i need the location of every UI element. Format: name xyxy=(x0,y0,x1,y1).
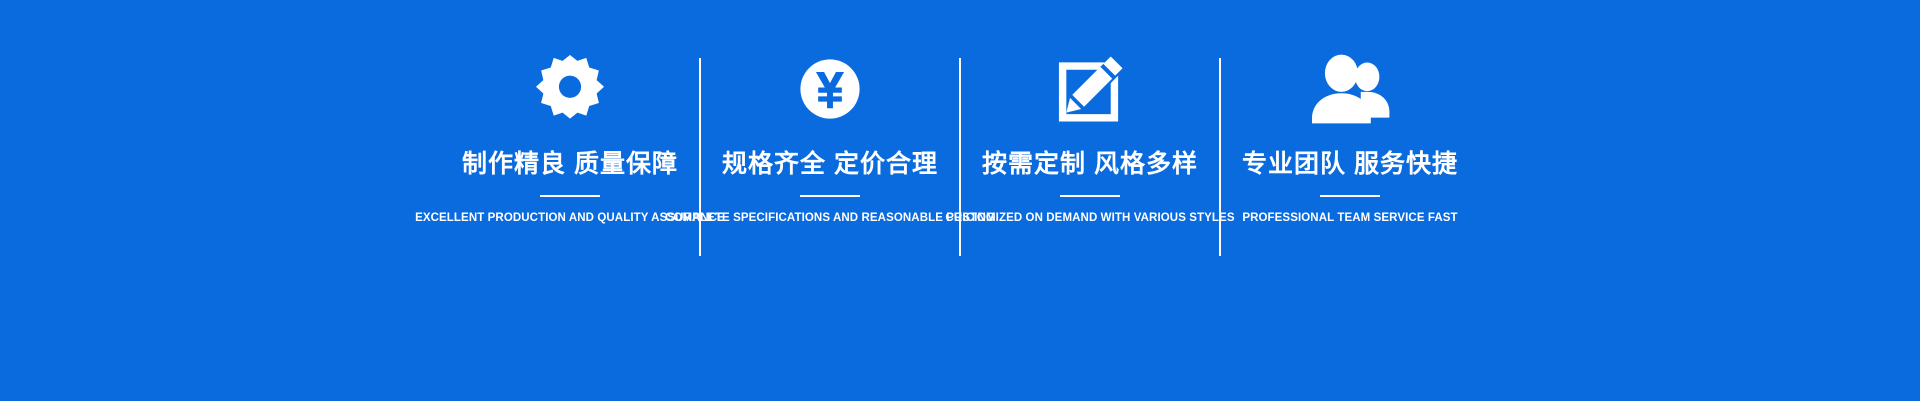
feature-item-customization[interactable]: 按需定制 风格多样 CUSTOMIZED ON DEMAND WITH VARI… xyxy=(961,0,1219,268)
feature-title: 制作精良 质量保障 xyxy=(462,152,678,177)
edit-pencil-icon xyxy=(1053,52,1127,126)
feature-list: 制作精良 质量保障 EXCELLENT PRODUCTION AND QUALI… xyxy=(0,0,1920,268)
feature-item-pricing[interactable]: 规格齐全 定价合理 COMPLETE SPECIFICATIONS AND RE… xyxy=(701,0,959,268)
feature-rule xyxy=(800,195,860,197)
feature-banner: 制作精良 质量保障 EXCELLENT PRODUCTION AND QUALI… xyxy=(0,0,1920,401)
gear-icon xyxy=(533,52,607,126)
feature-title: 专业团队 服务快捷 xyxy=(1242,152,1458,177)
feature-rule xyxy=(1060,195,1120,197)
bottom-band xyxy=(0,268,1920,401)
feature-title: 规格齐全 定价合理 xyxy=(722,152,938,177)
feature-subtitle: CUSTOMIZED ON DEMAND WITH VARIOUS STYLES xyxy=(945,213,1234,225)
feature-rule xyxy=(540,195,600,197)
feature-rule xyxy=(1320,195,1380,197)
people-team-icon xyxy=(1307,52,1393,126)
feature-title: 按需定制 风格多样 xyxy=(982,152,1198,177)
feature-subtitle: PROFESSIONAL TEAM SERVICE FAST xyxy=(1242,213,1457,225)
feature-item-quality[interactable]: 制作精良 质量保障 EXCELLENT PRODUCTION AND QUALI… xyxy=(441,0,699,268)
feature-item-team[interactable]: 专业团队 服务快捷 PROFESSIONAL TEAM SERVICE FAST xyxy=(1221,0,1479,268)
yen-circle-icon xyxy=(793,52,867,126)
